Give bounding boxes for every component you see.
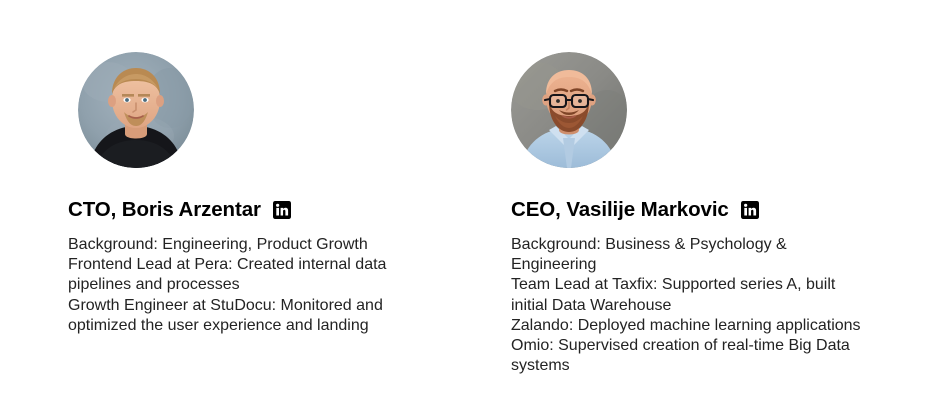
profile-card-cto: CTO, Boris Arzentar Background: Engineer… bbox=[68, 0, 468, 412]
profile-name-row-cto: CTO, Boris Arzentar bbox=[68, 198, 291, 222]
page-title-ceo: CEO, Vasilije Markovic bbox=[511, 198, 729, 222]
profile-bio-ceo: Background: Business & Psychology & Engi… bbox=[511, 235, 867, 376]
linkedin-icon[interactable] bbox=[273, 201, 291, 219]
page-title-cto: CTO, Boris Arzentar bbox=[68, 198, 261, 222]
profile-card-ceo: CEO, Vasilije Markovic Background: Busin… bbox=[511, 0, 911, 412]
profile-bio-cto: Background: Engineering, Product Growth … bbox=[68, 235, 420, 336]
avatar-vasilije-markovic bbox=[511, 52, 627, 168]
team-profiles-grid: CTO, Boris Arzentar Background: Engineer… bbox=[0, 0, 948, 412]
profile-name-row-ceo: CEO, Vasilije Markovic bbox=[511, 198, 759, 222]
avatar-boris-arzentar bbox=[78, 52, 194, 168]
linkedin-icon[interactable] bbox=[741, 201, 759, 219]
